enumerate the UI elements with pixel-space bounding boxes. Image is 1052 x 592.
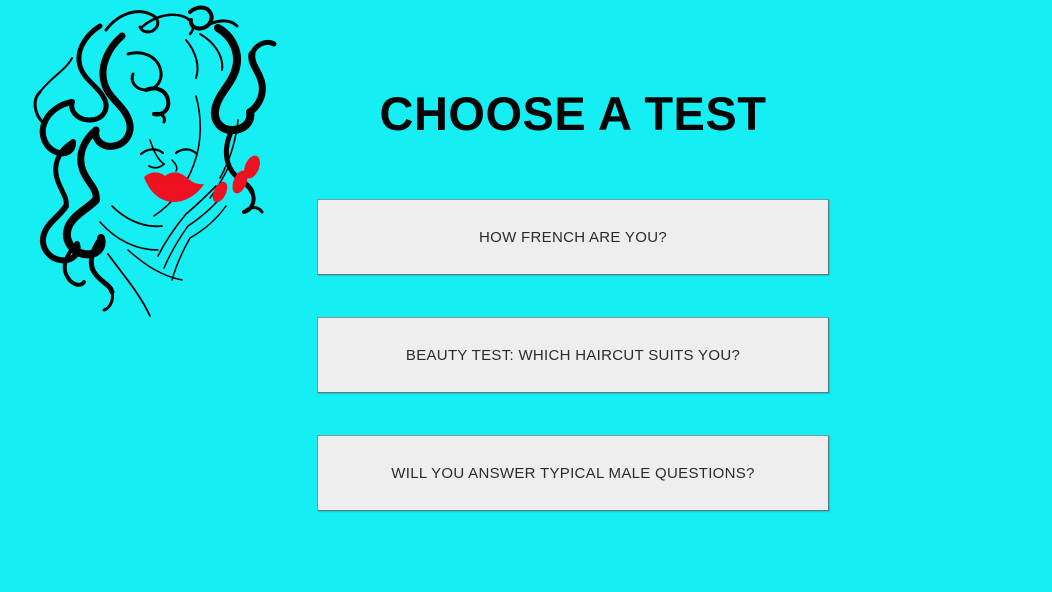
woman-face-illustration: [0, 0, 300, 320]
test-button-label: WILL YOU ANSWER TYPICAL MALE QUESTIONS?: [391, 465, 754, 482]
app-screen: CHOOSE A TEST HOW FRENCH ARE YOU? BEAUTY…: [0, 0, 1052, 592]
test-button-label: HOW FRENCH ARE YOU?: [479, 229, 667, 246]
lips: [144, 172, 204, 202]
test-list: HOW FRENCH ARE YOU? BEAUTY TEST: WHICH H…: [317, 199, 829, 511]
test-button-beauty-test-haircut[interactable]: BEAUTY TEST: WHICH HAIRCUT SUITS YOU?: [317, 317, 829, 393]
test-button-label: BEAUTY TEST: WHICH HAIRCUT SUITS YOU?: [406, 347, 740, 364]
test-button-typical-male-questions[interactable]: WILL YOU ANSWER TYPICAL MALE QUESTIONS?: [317, 435, 829, 511]
test-button-how-french-are-you[interactable]: HOW FRENCH ARE YOU?: [317, 199, 829, 275]
page-title: CHOOSE A TEST: [317, 84, 829, 144]
